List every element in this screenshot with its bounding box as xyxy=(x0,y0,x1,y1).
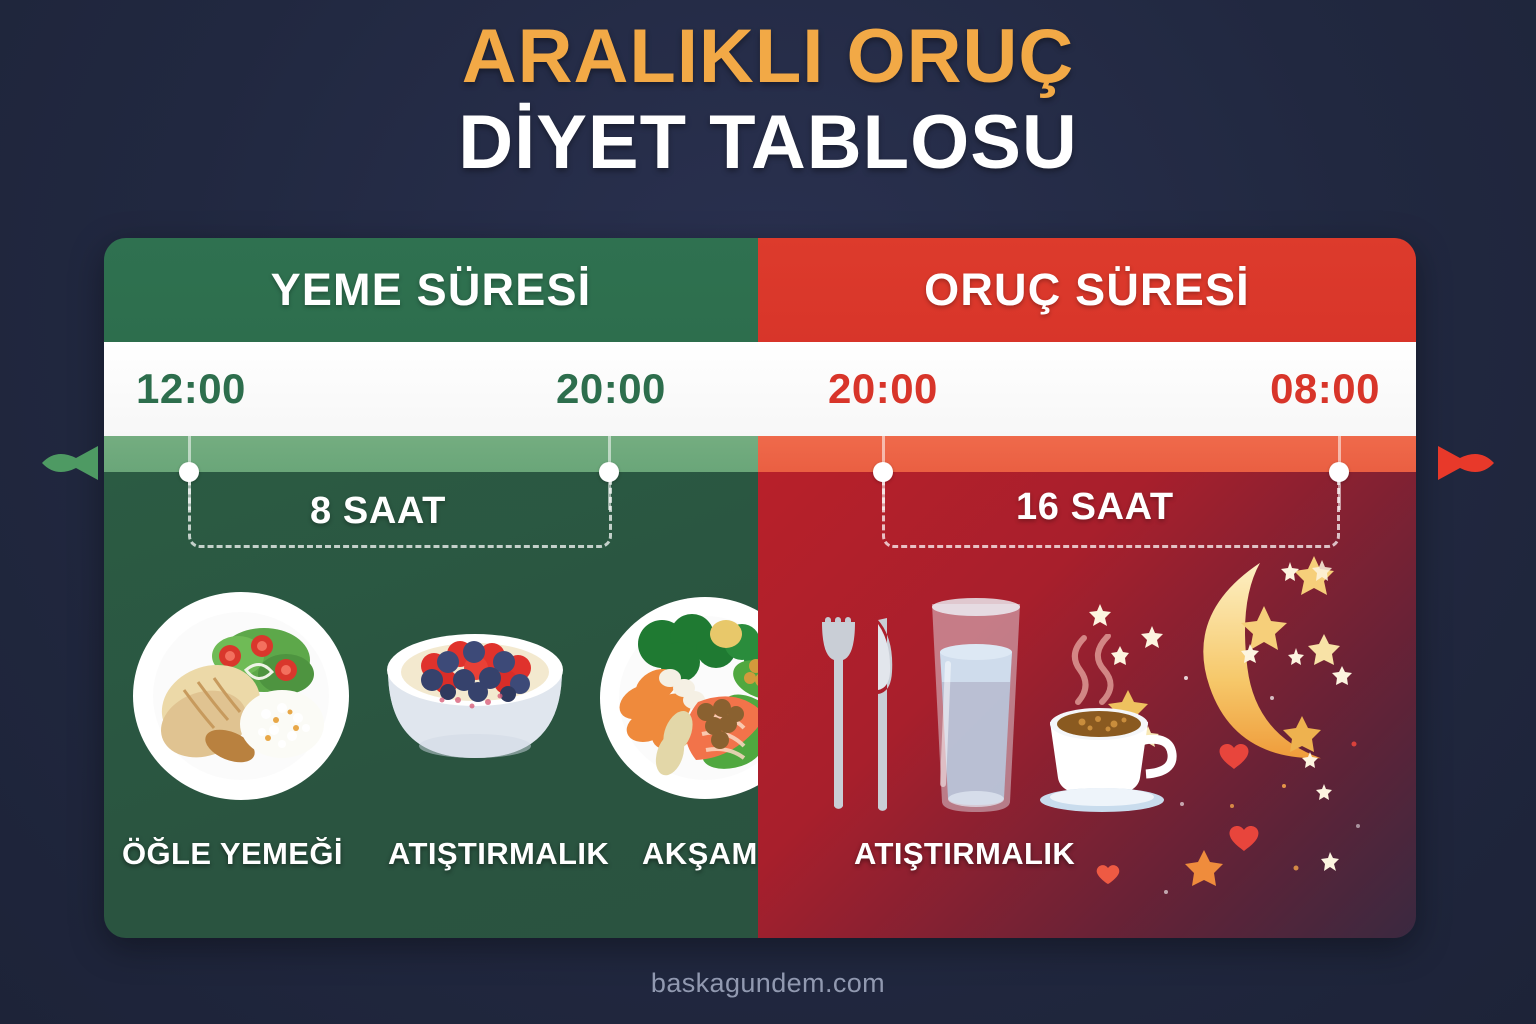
page-title-line2: DİYET TABLOSU xyxy=(0,104,1536,182)
meal-label-snack2: ATIŞTIRMALIK xyxy=(854,836,1075,872)
meal-label-lunch: ÖĞLE YEMEĞİ xyxy=(122,836,343,872)
eating-meal-labels: ÖĞLE YEMEĞİ ATIŞTIRMALIK AKŞAM YEMEĞİ xyxy=(104,836,758,896)
arrow-left-green-icon xyxy=(40,440,102,486)
eating-header-label: YEME SÜRESİ xyxy=(104,264,758,316)
fasting-progress-bar xyxy=(758,436,1416,472)
plate-chicken-rice-salad-icon xyxy=(126,578,356,813)
bowl-yogurt-berries-icon xyxy=(372,596,578,801)
eating-end-time: 20:00 xyxy=(556,365,666,413)
page-title-line1: ARALIKLI ORUÇ xyxy=(0,18,1536,96)
eating-duration-label: 8 SAAT xyxy=(310,490,446,533)
infographic-canvas: ARALIKLI ORUÇ DİYET TABLOSU 12:00 20:00 … xyxy=(0,0,1536,1024)
fasting-start-time: 20:00 xyxy=(828,365,938,413)
fork-knife-icon xyxy=(816,614,902,819)
fasting-time-band: 20:00 08:00 xyxy=(758,342,1416,436)
footer-site: baskagundem.com xyxy=(0,968,1536,999)
eating-progress-bar xyxy=(104,436,758,472)
meal-label-snack1: ATIŞTIRMALIK xyxy=(388,836,609,872)
eating-time-band: 12:00 20:00 xyxy=(104,342,758,436)
coffee-cup-icon xyxy=(1032,634,1188,819)
eating-food-row xyxy=(104,578,758,828)
fasting-duration-label: 16 SAAT xyxy=(1016,486,1174,529)
arrow-right-red-icon xyxy=(1434,440,1496,486)
schedule-card: 12:00 20:00 YEME SÜRESİ 8 SAAT xyxy=(104,238,1416,938)
title-block: ARALIKLI ORUÇ DİYET TABLOSU xyxy=(0,18,1536,181)
eating-start-time: 12:00 xyxy=(136,365,246,413)
fasting-header: ORUÇ SÜRESİ xyxy=(758,238,1416,342)
fasting-panel: 20:00 08:00 ORUÇ SÜRESİ 16 SAAT xyxy=(758,238,1416,938)
fasting-end-time: 08:00 xyxy=(1270,365,1380,413)
water-glass-icon xyxy=(918,594,1034,819)
fasting-meal-labels: ATIŞTIRMALIK xyxy=(758,836,1416,896)
eating-panel: 12:00 20:00 YEME SÜRESİ 8 SAAT xyxy=(104,238,758,938)
fasting-header-label: ORUÇ SÜRESİ xyxy=(758,264,1416,316)
eating-header: YEME SÜRESİ xyxy=(104,238,758,342)
